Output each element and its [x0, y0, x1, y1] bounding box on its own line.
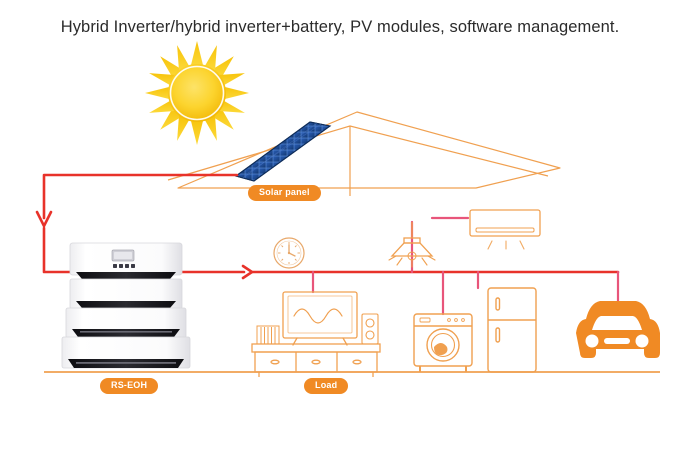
sun-icon [145, 41, 249, 145]
diagram-canvas: Hybrid Inverter/hybrid inverter+battery,… [0, 0, 680, 465]
inverter-to-bus-line [176, 266, 618, 278]
television-icon [283, 292, 357, 345]
speaker-icon [362, 314, 378, 344]
refrigerator-icon [488, 288, 536, 372]
solar-panel-icon [236, 122, 330, 181]
badge-inverter-model: RS-EOH [100, 378, 158, 394]
wall-clock-icon [274, 238, 304, 268]
air-conditioner-icon [470, 210, 540, 249]
energy-system-diagram [0, 0, 680, 465]
electric-car-icon [576, 301, 660, 358]
badge-load: Load [304, 378, 348, 394]
load-branch-lines [313, 222, 618, 314]
washing-machine-icon [414, 314, 472, 372]
inverter-battery-stack-icon [62, 243, 190, 368]
badge-solar-panel: Solar panel [248, 185, 321, 201]
books-icon [257, 326, 279, 344]
